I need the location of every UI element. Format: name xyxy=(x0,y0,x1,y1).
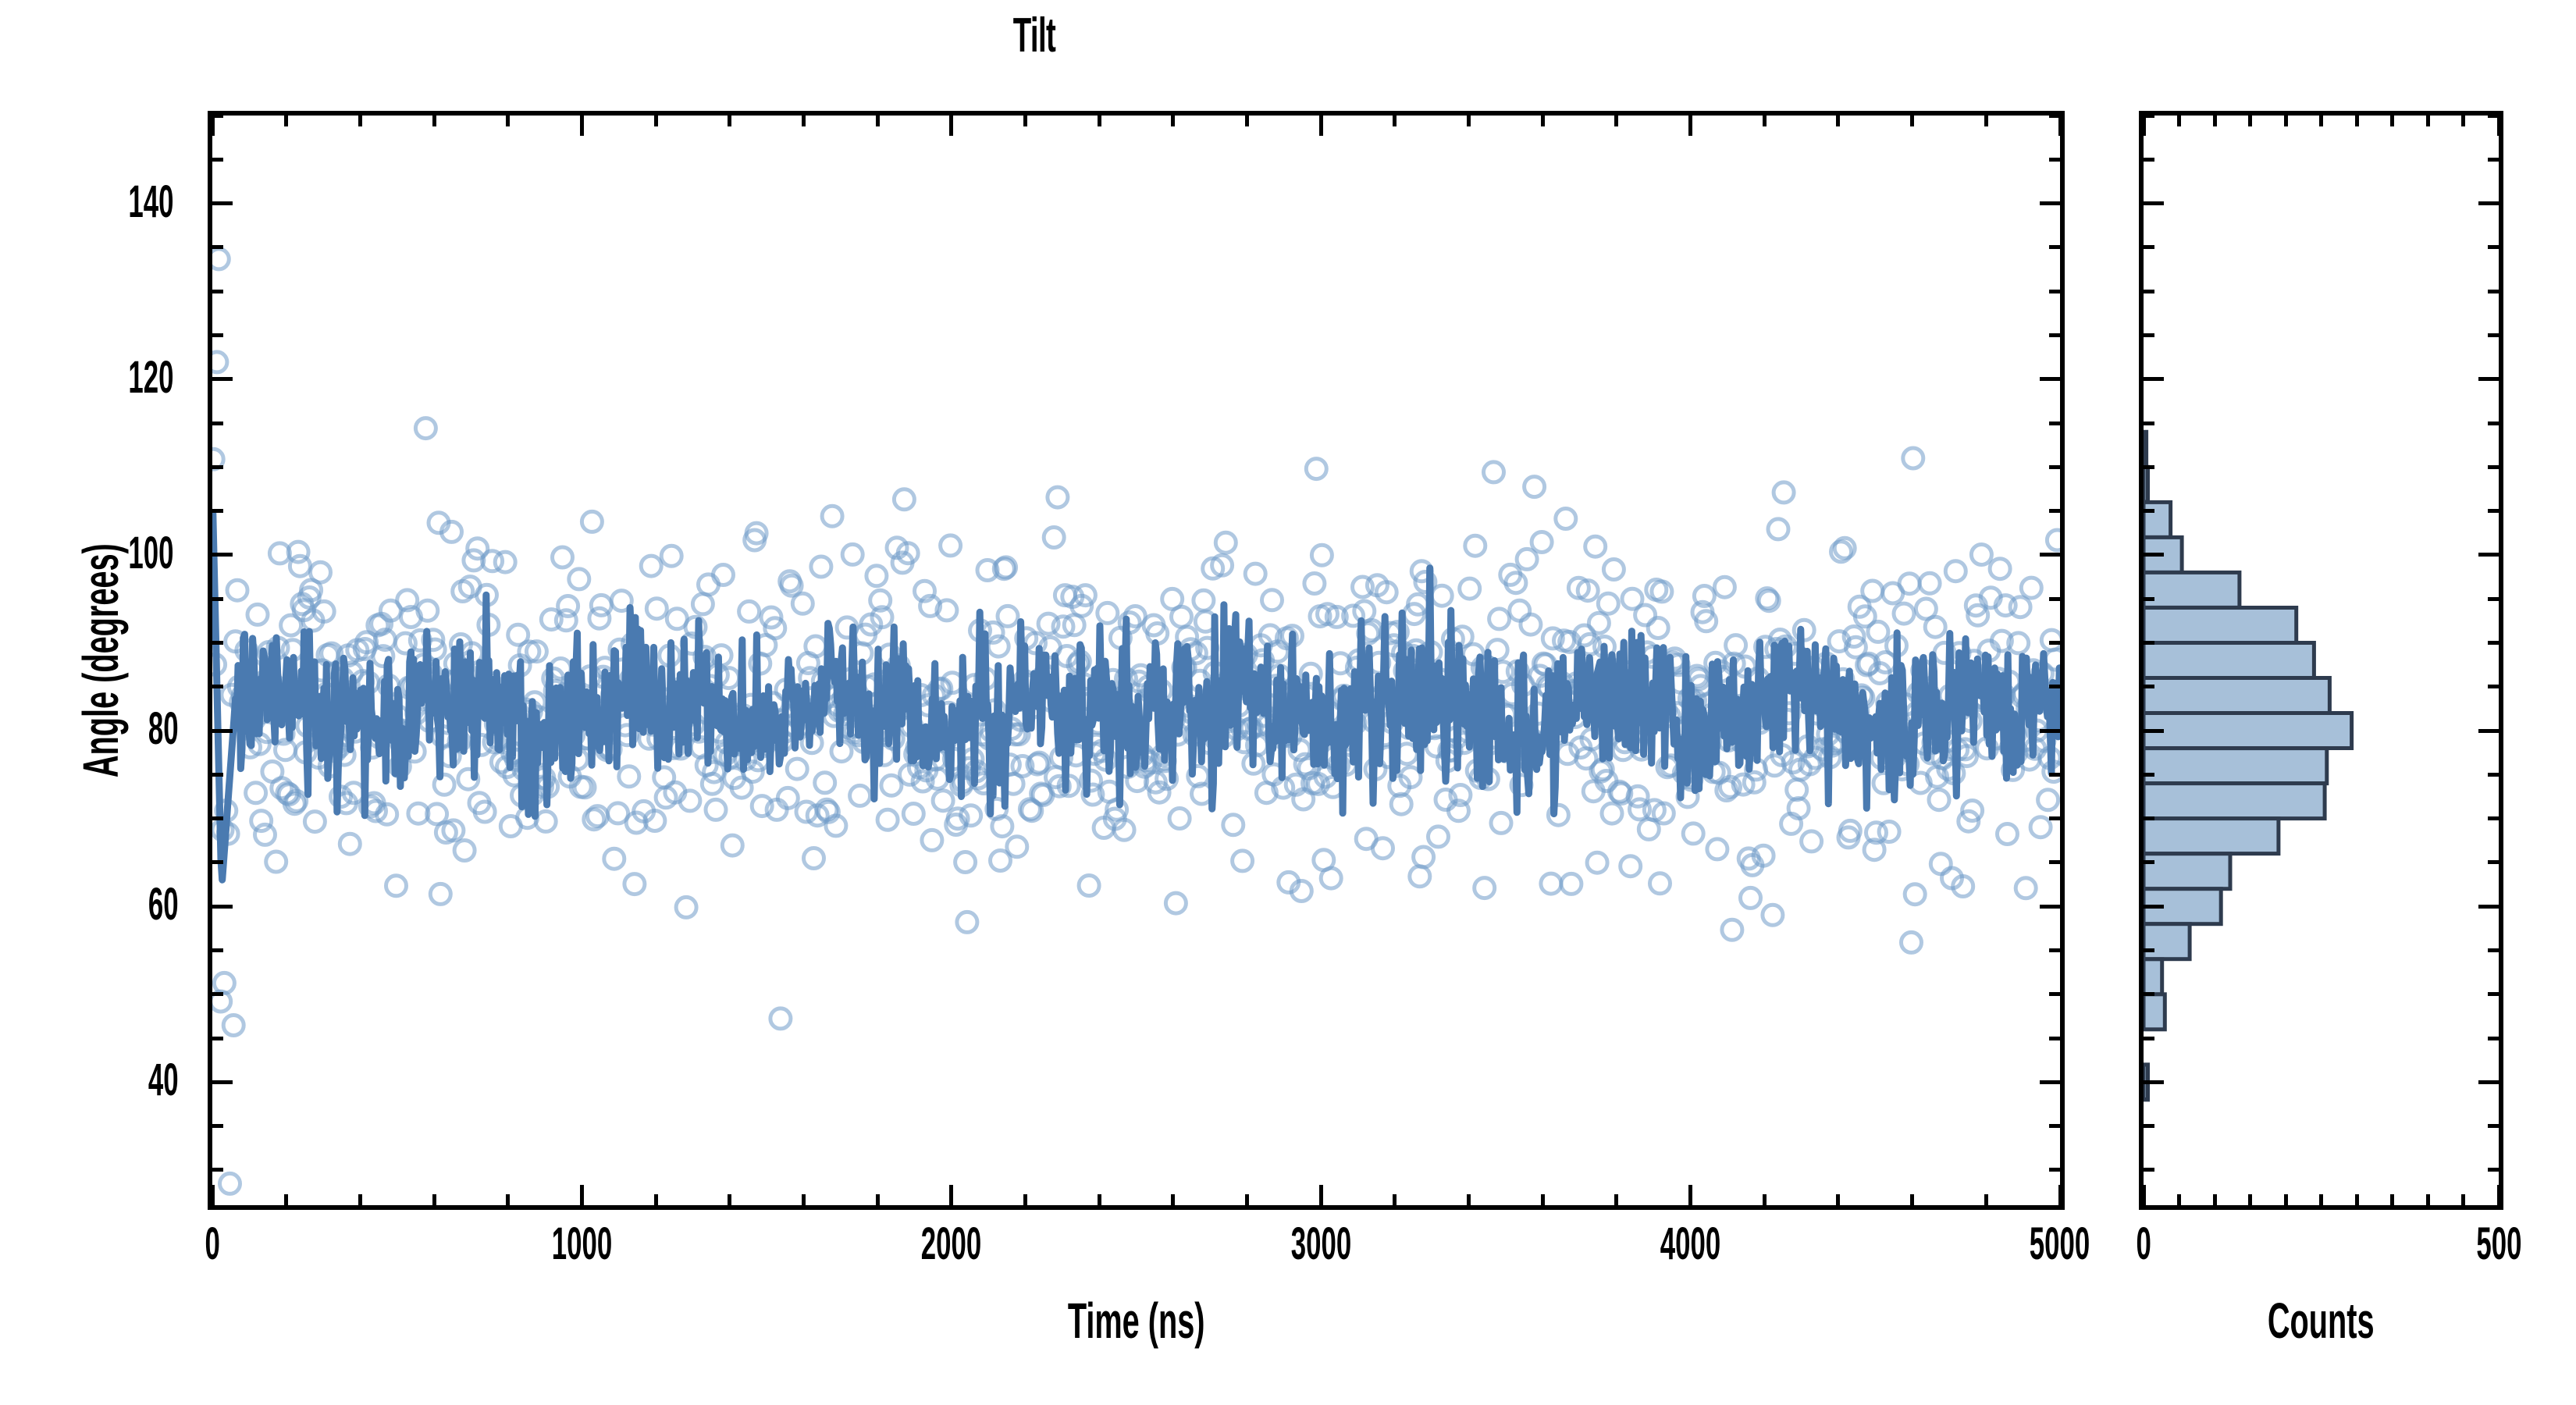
hist-y-tick-right-140 xyxy=(2478,201,2499,205)
y-tick-75 xyxy=(212,773,223,777)
x-tick-label-0: 0 xyxy=(80,1218,345,1270)
y-tick-right-135 xyxy=(2049,245,2060,249)
y-tick-40 xyxy=(212,1080,233,1084)
y-tick-140 xyxy=(212,201,233,205)
hist-y-tick-60 xyxy=(2144,905,2164,909)
hist-y-tick-35 xyxy=(2144,1124,2154,1128)
y-axis-title: Angle (degrees) xyxy=(72,111,130,1210)
counts-tick-top-250 xyxy=(2319,116,2323,126)
x-tick-top-3800 xyxy=(1614,116,1618,126)
y-tick-115 xyxy=(212,421,223,425)
hist-y-tick-right-70 xyxy=(2488,816,2499,820)
hist-y-tick-115 xyxy=(2144,421,2154,425)
x-tick-0 xyxy=(211,1185,215,1205)
hist-y-tick-right-40 xyxy=(2478,1080,2499,1084)
x-tick-4400 xyxy=(1836,1194,1840,1205)
hist-y-tick-85 xyxy=(2144,685,2154,688)
y-tick-50 xyxy=(212,992,223,996)
hist-y-tick-right-130 xyxy=(2488,290,2499,293)
x-tick-4800 xyxy=(1984,1194,1988,1205)
y-tick-150 xyxy=(212,114,223,118)
x-tick-top-2000 xyxy=(949,116,953,136)
histogram-panel xyxy=(2139,111,2503,1210)
y-tick-right-140 xyxy=(2040,201,2060,205)
x-tick-top-1200 xyxy=(654,116,658,126)
hist-y-tick-55 xyxy=(2144,948,2154,952)
hist-y-tick-right-35 xyxy=(2488,1124,2499,1128)
counts-tick-top-100 xyxy=(2213,116,2217,126)
x-tick-top-4800 xyxy=(1984,116,1988,126)
y-tick-35 xyxy=(212,1124,223,1128)
x-tick-1400 xyxy=(728,1194,731,1205)
hist-y-tick-right-60 xyxy=(2478,905,2499,909)
x-tick-top-4400 xyxy=(1836,116,1840,126)
y-tick-right-110 xyxy=(2049,465,2060,469)
x-tick-top-1400 xyxy=(728,116,731,126)
hist-y-tick-right-90 xyxy=(2488,641,2499,645)
x-tick-top-1800 xyxy=(876,116,880,126)
y-tick-145 xyxy=(212,158,223,162)
y-tick-right-35 xyxy=(2049,1124,2060,1128)
hist-y-tick-70 xyxy=(2144,816,2154,820)
y-tick-right-145 xyxy=(2049,158,2060,162)
x-tick-2000 xyxy=(949,1185,953,1205)
hist-y-tick-45 xyxy=(2144,1037,2154,1040)
x-tick-4000 xyxy=(1688,1185,1692,1205)
x-tick-3200 xyxy=(1393,1194,1397,1205)
counts-tick-top-200 xyxy=(2284,116,2288,126)
counts-tick-top-300 xyxy=(2355,116,2359,126)
counts-tick-400 xyxy=(2426,1194,2430,1205)
hist-y-tick-140 xyxy=(2144,201,2164,205)
x-tick-top-400 xyxy=(358,116,362,126)
x-axis-title-text: Time (ns) xyxy=(1068,1292,1205,1350)
y-tick-right-65 xyxy=(2049,860,2060,864)
x-tick-top-200 xyxy=(284,116,288,126)
hist-y-tick-65 xyxy=(2144,860,2154,864)
x-tick-top-1000 xyxy=(580,116,584,136)
x-tick-top-2400 xyxy=(1098,116,1101,126)
y-tick-right-150 xyxy=(2049,114,2060,118)
x-tick-top-2200 xyxy=(1023,116,1027,126)
scatter-plot-panel xyxy=(208,111,2065,1210)
hist-y-tick-80 xyxy=(2144,729,2164,733)
hist-y-tick-110 xyxy=(2144,465,2154,469)
histogram-plot-area xyxy=(2144,116,2499,1205)
hist-y-tick-135 xyxy=(2144,245,2154,249)
y-tick-110 xyxy=(212,465,223,469)
counts-tick-350 xyxy=(2390,1194,2394,1205)
hist-y-tick-right-125 xyxy=(2488,333,2499,337)
y-tick-right-60 xyxy=(2040,905,2060,909)
x-tick-top-3200 xyxy=(1393,116,1397,126)
y-tick-65 xyxy=(212,860,223,864)
hist-y-tick-145 xyxy=(2144,158,2154,162)
x-tick-3800 xyxy=(1614,1194,1618,1205)
counts-tick-50 xyxy=(2177,1194,2181,1205)
hist-y-tick-right-105 xyxy=(2488,509,2499,513)
hist-y-tick-right-30 xyxy=(2488,1168,2499,1172)
hist-y-tick-30 xyxy=(2144,1168,2154,1172)
hist-y-tick-100 xyxy=(2144,553,2164,557)
hist-y-tick-right-80 xyxy=(2478,729,2499,733)
x-tick-top-4600 xyxy=(1910,116,1914,126)
x-tick-top-3400 xyxy=(1467,116,1471,126)
y-axis-title-text: Angle (degrees) xyxy=(72,543,130,777)
hist-y-tick-50 xyxy=(2144,992,2154,996)
counts-tick-300 xyxy=(2355,1194,2359,1205)
counts-tick-label-500: 500 xyxy=(2366,1218,2576,1270)
x-tick-top-3000 xyxy=(1319,116,1323,136)
x-tick-top-4200 xyxy=(1763,116,1767,126)
y-tick-100 xyxy=(212,553,233,557)
x-tick-2800 xyxy=(1245,1194,1249,1205)
x-tick-top-2800 xyxy=(1245,116,1249,126)
hist-y-tick-right-45 xyxy=(2488,1037,2499,1040)
counts-tick-150 xyxy=(2248,1194,2252,1205)
x-tick-400 xyxy=(358,1194,362,1205)
y-tick-right-100 xyxy=(2040,553,2060,557)
counts-axis-title-text: Counts xyxy=(2268,1292,2375,1350)
x-tick-2200 xyxy=(1023,1194,1027,1205)
hist-y-tick-right-115 xyxy=(2488,421,2499,425)
counts-axis-title: Counts xyxy=(2139,1292,2503,1350)
y-tick-right-75 xyxy=(2049,773,2060,777)
hist-y-tick-120 xyxy=(2144,377,2164,381)
y-tick-85 xyxy=(212,685,223,688)
counts-tick-top-450 xyxy=(2461,116,2465,126)
figure-root: Tilt 01000200030004000500040608010012014… xyxy=(0,0,2576,1405)
x-tick-2600 xyxy=(1171,1194,1175,1205)
y-tick-right-45 xyxy=(2049,1037,2060,1040)
counts-tick-250 xyxy=(2319,1194,2323,1205)
x-tick-200 xyxy=(284,1194,288,1205)
y-tick-right-95 xyxy=(2049,597,2060,601)
x-axis-title: Time (ns) xyxy=(208,1292,2065,1350)
y-tick-70 xyxy=(212,816,223,820)
x-tick-1000 xyxy=(580,1185,584,1205)
x-tick-top-800 xyxy=(506,116,510,126)
hist-y-tick-right-100 xyxy=(2478,553,2499,557)
x-tick-top-2600 xyxy=(1171,116,1175,126)
counts-tick-450 xyxy=(2461,1194,2465,1205)
chart-title: Tilt xyxy=(393,8,1676,63)
counts-tick-label-0: 0 xyxy=(2011,1218,2276,1270)
x-tick-600 xyxy=(432,1194,436,1205)
hist-y-tick-105 xyxy=(2144,509,2154,513)
counts-tick-top-500 xyxy=(2497,116,2501,136)
y-tick-right-105 xyxy=(2049,509,2060,513)
y-tick-105 xyxy=(212,509,223,513)
histogram-bars xyxy=(2144,116,2499,1205)
counts-tick-top-350 xyxy=(2390,116,2394,126)
y-tick-30 xyxy=(212,1168,223,1172)
y-tick-right-80 xyxy=(2040,729,2060,733)
hist-y-tick-right-75 xyxy=(2488,773,2499,777)
x-tick-label-1000: 1000 xyxy=(449,1218,714,1270)
hist-y-tick-right-65 xyxy=(2488,860,2499,864)
x-tick-1200 xyxy=(654,1194,658,1205)
counts-tick-top-400 xyxy=(2426,116,2430,126)
y-tick-95 xyxy=(212,597,223,601)
x-tick-label-4000: 4000 xyxy=(1558,1218,1823,1270)
counts-tick-top-0 xyxy=(2142,116,2146,136)
y-tick-right-55 xyxy=(2049,948,2060,952)
y-tick-right-85 xyxy=(2049,685,2060,688)
y-tick-80 xyxy=(212,729,233,733)
x-tick-top-4000 xyxy=(1688,116,1692,136)
x-tick-top-3600 xyxy=(1541,116,1545,126)
x-tick-label-3000: 3000 xyxy=(1188,1218,1453,1270)
running-average-line xyxy=(212,116,2060,1205)
x-tick-1800 xyxy=(876,1194,880,1205)
x-tick-label-2000: 2000 xyxy=(819,1218,1084,1270)
y-tick-55 xyxy=(212,948,223,952)
counts-tick-500 xyxy=(2497,1185,2501,1205)
hist-y-tick-right-85 xyxy=(2488,685,2499,688)
y-tick-right-115 xyxy=(2049,421,2060,425)
hist-y-tick-right-50 xyxy=(2488,992,2499,996)
hist-y-tick-right-110 xyxy=(2488,465,2499,469)
hist-y-tick-right-120 xyxy=(2478,377,2499,381)
x-tick-4600 xyxy=(1910,1194,1914,1205)
y-tick-right-120 xyxy=(2040,377,2060,381)
x-tick-1600 xyxy=(802,1194,806,1205)
y-tick-right-130 xyxy=(2049,290,2060,293)
y-tick-120 xyxy=(212,377,233,381)
x-tick-top-600 xyxy=(432,116,436,126)
x-tick-top-5000 xyxy=(2058,116,2062,136)
x-tick-3400 xyxy=(1467,1194,1471,1205)
hist-y-tick-40 xyxy=(2144,1080,2164,1084)
scatter-plot-area xyxy=(212,116,2060,1205)
hist-y-tick-125 xyxy=(2144,333,2154,337)
counts-tick-100 xyxy=(2213,1194,2217,1205)
y-tick-135 xyxy=(212,245,223,249)
y-tick-125 xyxy=(212,333,223,337)
x-tick-3000 xyxy=(1319,1185,1323,1205)
y-tick-right-90 xyxy=(2049,641,2060,645)
hist-y-tick-90 xyxy=(2144,641,2154,645)
y-tick-right-30 xyxy=(2049,1168,2060,1172)
hist-y-tick-right-145 xyxy=(2488,158,2499,162)
hist-y-tick-right-150 xyxy=(2488,114,2499,118)
x-tick-800 xyxy=(506,1194,510,1205)
x-tick-3600 xyxy=(1541,1194,1545,1205)
x-tick-top-1600 xyxy=(802,116,806,126)
y-tick-130 xyxy=(212,290,223,293)
y-tick-right-40 xyxy=(2040,1080,2060,1084)
x-tick-4200 xyxy=(1763,1194,1767,1205)
counts-tick-top-150 xyxy=(2248,116,2252,126)
counts-tick-200 xyxy=(2284,1194,2288,1205)
hist-y-tick-right-95 xyxy=(2488,597,2499,601)
hist-y-tick-75 xyxy=(2144,773,2154,777)
x-tick-top-0 xyxy=(211,116,215,136)
y-tick-60 xyxy=(212,905,233,909)
x-tick-5000 xyxy=(2058,1185,2062,1205)
counts-tick-0 xyxy=(2142,1185,2146,1205)
y-tick-right-70 xyxy=(2049,816,2060,820)
y-tick-right-50 xyxy=(2049,992,2060,996)
y-tick-45 xyxy=(212,1037,223,1040)
hist-y-tick-130 xyxy=(2144,290,2154,293)
hist-y-tick-150 xyxy=(2144,114,2154,118)
hist-y-tick-right-55 xyxy=(2488,948,2499,952)
x-tick-2400 xyxy=(1098,1194,1101,1205)
hist-y-tick-95 xyxy=(2144,597,2154,601)
counts-tick-top-50 xyxy=(2177,116,2181,126)
y-tick-90 xyxy=(212,641,223,645)
y-tick-right-125 xyxy=(2049,333,2060,337)
hist-y-tick-right-135 xyxy=(2488,245,2499,249)
